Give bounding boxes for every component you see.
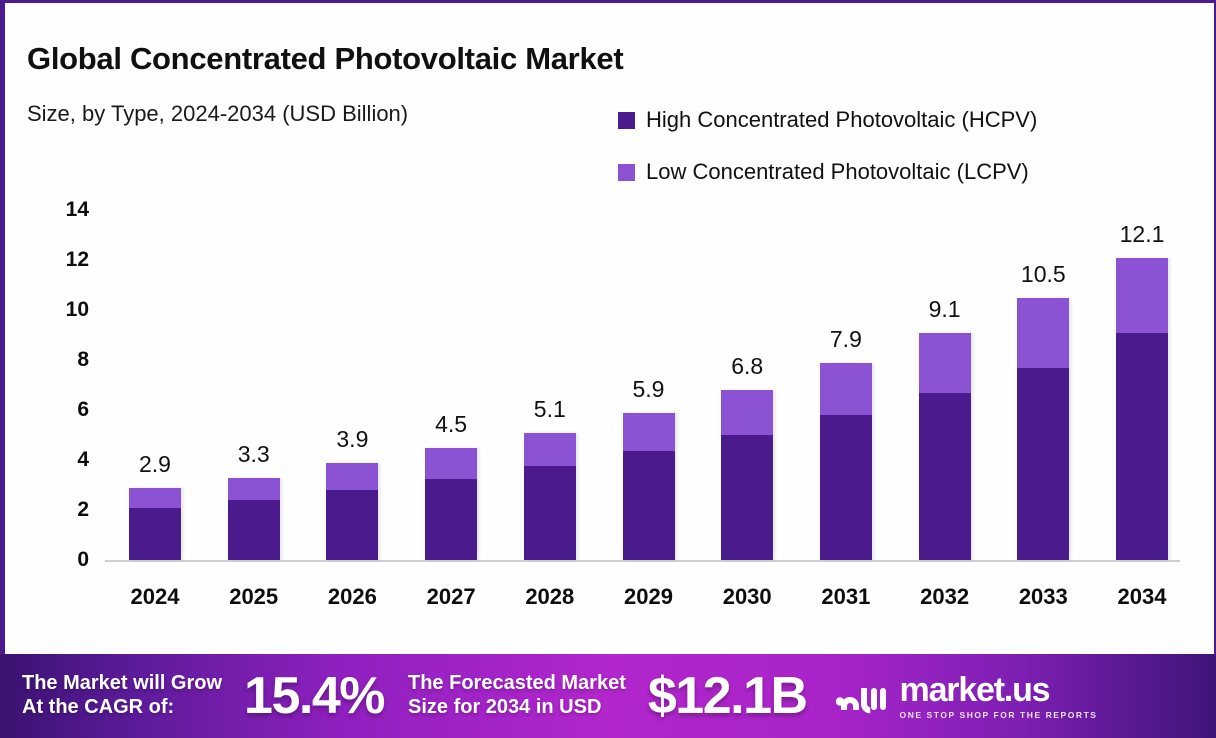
x-axis-tick-2025: 2025 xyxy=(206,584,302,610)
y-axis-tick-14: 14 xyxy=(43,198,89,222)
bar-stack-2029[interactable] xyxy=(623,413,675,561)
bar-value-label-2031: 7.9 xyxy=(798,326,894,353)
bar-stack-2026[interactable] xyxy=(326,463,378,561)
bar-segment-lcpv-2026[interactable] xyxy=(326,463,378,491)
footer-cagr-caption: The Market will Grow At the CAGR of: xyxy=(22,672,222,719)
bar-value-label-2027: 4.5 xyxy=(403,411,499,438)
bar-segment-hcpv-2027[interactable] xyxy=(425,479,477,560)
bar-segment-lcpv-2030[interactable] xyxy=(721,390,773,435)
footer-banner: The Market will Grow At the CAGR of: 15.… xyxy=(0,654,1216,738)
bar-value-label-2028: 5.1 xyxy=(502,396,598,423)
footer-cagr-caption-line1: The Market will Grow xyxy=(22,672,222,696)
x-axis-tick-2031: 2031 xyxy=(798,584,894,610)
bar-stack-2031[interactable] xyxy=(820,363,872,561)
bar-group-2032[interactable]: 9.12032 xyxy=(919,3,971,643)
bar-value-label-2026: 3.9 xyxy=(304,426,400,453)
bar-segment-hcpv-2031[interactable] xyxy=(820,415,872,560)
brand-name: market.us xyxy=(900,673,1098,707)
bar-segment-lcpv-2031[interactable] xyxy=(820,363,872,416)
bar-value-label-2025: 3.3 xyxy=(206,441,302,468)
bar-group-2031[interactable]: 7.92031 xyxy=(820,3,872,643)
bar-segment-lcpv-2025[interactable] xyxy=(228,478,280,501)
y-axis-tick-8: 8 xyxy=(43,348,89,372)
x-axis-tick-2027: 2027 xyxy=(403,584,499,610)
bar-stack-2028[interactable] xyxy=(524,433,576,561)
brand-tagline: ONE STOP SHOP FOR THE REPORTS xyxy=(900,710,1098,720)
bar-group-2034[interactable]: 12.12034 xyxy=(1116,3,1168,643)
bar-stack-2033[interactable] xyxy=(1017,298,1069,561)
footer-cagr-caption-line2: At the CAGR of: xyxy=(22,696,222,720)
bar-segment-hcpv-2034[interactable] xyxy=(1116,333,1168,561)
y-axis-tick-4: 4 xyxy=(43,448,89,472)
bar-segment-lcpv-2028[interactable] xyxy=(524,433,576,467)
bar-stack-2034[interactable] xyxy=(1116,258,1168,561)
bar-group-2025[interactable]: 3.32025 xyxy=(228,3,280,643)
brand-text-block: market.us ONE STOP SHOP FOR THE REPORTS xyxy=(900,673,1098,720)
chart-plot-area: 02468101214 2.920243.320253.920264.52027… xyxy=(5,3,1216,643)
bar-stack-2032[interactable] xyxy=(919,333,971,561)
y-axis-tick-10: 10 xyxy=(43,298,89,322)
y-axis-tick-12: 12 xyxy=(43,248,89,272)
x-axis-tick-2032: 2032 xyxy=(897,584,993,610)
bar-stack-2030[interactable] xyxy=(721,390,773,560)
bar-stack-2025[interactable] xyxy=(228,478,280,561)
footer-size-caption-line1: The Forecasted Market xyxy=(408,672,626,696)
x-axis-tick-2029: 2029 xyxy=(601,584,697,610)
bar-segment-hcpv-2026[interactable] xyxy=(326,490,378,560)
bar-value-label-2032: 9.1 xyxy=(897,296,993,323)
bar-group-2024[interactable]: 2.92024 xyxy=(129,3,181,643)
y-axis-tick-0: 0 xyxy=(43,548,89,572)
brand-logo[interactable]: market.us ONE STOP SHOP FOR THE REPORTS xyxy=(835,673,1098,720)
bar-group-2028[interactable]: 5.12028 xyxy=(524,3,576,643)
market-us-logo-icon xyxy=(835,676,891,716)
bar-segment-hcpv-2032[interactable] xyxy=(919,393,971,561)
bar-value-label-2024: 2.9 xyxy=(107,451,203,478)
bar-group-2033[interactable]: 10.52033 xyxy=(1017,3,1069,643)
bar-value-label-2030: 6.8 xyxy=(699,353,795,380)
footer-size-value: $12.1B xyxy=(648,666,807,726)
bar-value-label-2033: 10.5 xyxy=(995,261,1091,288)
bar-segment-hcpv-2028[interactable] xyxy=(524,466,576,560)
x-axis-tick-2024: 2024 xyxy=(107,584,203,610)
footer-cagr-value: 15.4% xyxy=(244,666,384,726)
bar-segment-hcpv-2029[interactable] xyxy=(623,451,675,560)
bar-stack-2024[interactable] xyxy=(129,488,181,561)
bar-value-label-2029: 5.9 xyxy=(601,376,697,403)
bar-segment-hcpv-2030[interactable] xyxy=(721,435,773,560)
bar-segment-lcpv-2033[interactable] xyxy=(1017,298,1069,368)
bar-segment-lcpv-2024[interactable] xyxy=(129,488,181,508)
bar-segment-lcpv-2029[interactable] xyxy=(623,413,675,452)
chart-page: Global Concentrated Photovoltaic Market … xyxy=(0,0,1216,738)
y-axis-tick-2: 2 xyxy=(43,498,89,522)
bar-value-label-2034: 12.1 xyxy=(1094,221,1190,248)
y-axis-tick-6: 6 xyxy=(43,398,89,422)
x-axis-tick-2034: 2034 xyxy=(1094,584,1190,610)
bar-group-2027[interactable]: 4.52027 xyxy=(425,3,477,643)
bar-segment-hcpv-2033[interactable] xyxy=(1017,368,1069,561)
x-axis-tick-2026: 2026 xyxy=(304,584,400,610)
footer-size-caption: The Forecasted Market Size for 2034 in U… xyxy=(408,672,626,719)
bar-segment-lcpv-2027[interactable] xyxy=(425,448,477,479)
bar-segment-lcpv-2032[interactable] xyxy=(919,333,971,393)
x-axis-tick-2028: 2028 xyxy=(502,584,598,610)
x-axis-tick-2033: 2033 xyxy=(995,584,1091,610)
bar-stack-2027[interactable] xyxy=(425,448,477,561)
bar-segment-lcpv-2034[interactable] xyxy=(1116,258,1168,333)
bar-group-2026[interactable]: 3.92026 xyxy=(326,3,378,643)
bar-group-2030[interactable]: 6.82030 xyxy=(721,3,773,643)
x-axis-tick-2030: 2030 xyxy=(699,584,795,610)
bar-segment-hcpv-2024[interactable] xyxy=(129,508,181,561)
footer-size-caption-line2: Size for 2034 in USD xyxy=(408,696,626,720)
bar-segment-hcpv-2025[interactable] xyxy=(228,500,280,560)
bar-group-2029[interactable]: 5.92029 xyxy=(623,3,675,643)
